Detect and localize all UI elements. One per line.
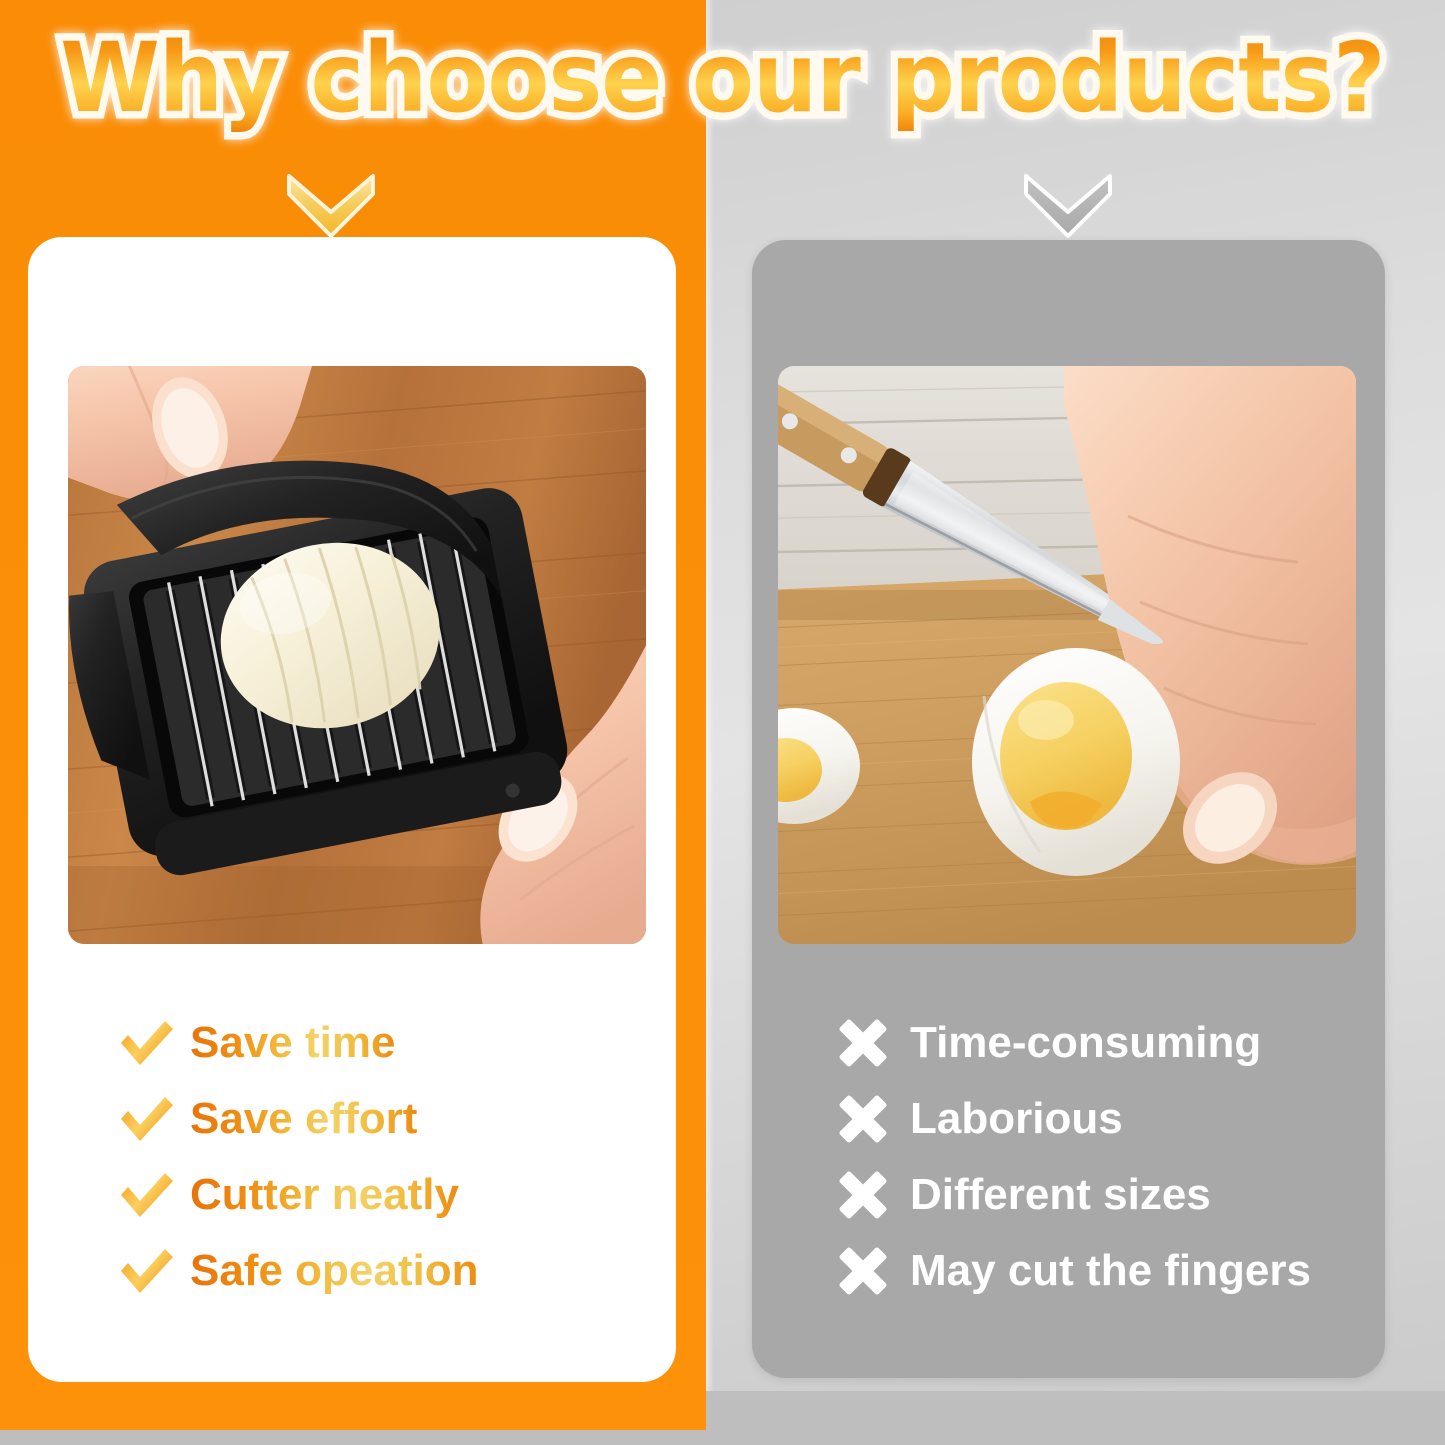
comparison-infographic: Why choose our products? Why choose our … bbox=[0, 0, 1445, 1445]
cross-icon bbox=[838, 1018, 910, 1068]
product-photo-ours bbox=[68, 366, 646, 944]
feature-list-ours: Save time Save effort Cutter neatly bbox=[118, 1005, 479, 1309]
list-item: Laborious bbox=[838, 1081, 1311, 1157]
feature-label: Time-consuming bbox=[910, 1018, 1261, 1068]
list-item: Save time bbox=[118, 1005, 479, 1081]
feature-label: Save effort bbox=[190, 1094, 417, 1144]
feature-label: May cut the fingers bbox=[910, 1246, 1311, 1296]
check-icon bbox=[118, 1171, 190, 1219]
feature-label: Safe opeation bbox=[190, 1246, 479, 1296]
panel-divider bbox=[706, 0, 714, 1391]
feature-label: Save time bbox=[190, 1018, 395, 1068]
chevron-down-icon bbox=[285, 168, 377, 245]
page-title: Why choose our products? Why choose our … bbox=[0, 26, 1445, 130]
chevron-down-icon bbox=[1022, 168, 1114, 245]
feature-list-other: Time-consuming Laborious Different sizes bbox=[838, 1005, 1311, 1309]
cross-icon bbox=[838, 1246, 910, 1296]
feature-label: Laborious bbox=[910, 1094, 1123, 1144]
feature-label: Cutter neatly bbox=[190, 1170, 459, 1220]
product-photo-other bbox=[778, 366, 1356, 944]
list-item: May cut the fingers bbox=[838, 1233, 1311, 1309]
cross-icon bbox=[838, 1094, 910, 1144]
check-icon bbox=[118, 1095, 190, 1143]
page-title-text: Why choose our products? bbox=[60, 22, 1384, 134]
list-item: Time-consuming bbox=[838, 1005, 1311, 1081]
list-item: Cutter neatly bbox=[118, 1157, 479, 1233]
cross-icon bbox=[838, 1170, 910, 1220]
check-icon bbox=[118, 1019, 190, 1067]
check-icon bbox=[118, 1247, 190, 1295]
feature-label: Different sizes bbox=[910, 1170, 1211, 1220]
list-item: Save effort bbox=[118, 1081, 479, 1157]
list-item: Different sizes bbox=[838, 1157, 1311, 1233]
list-item: Safe opeation bbox=[118, 1233, 479, 1309]
